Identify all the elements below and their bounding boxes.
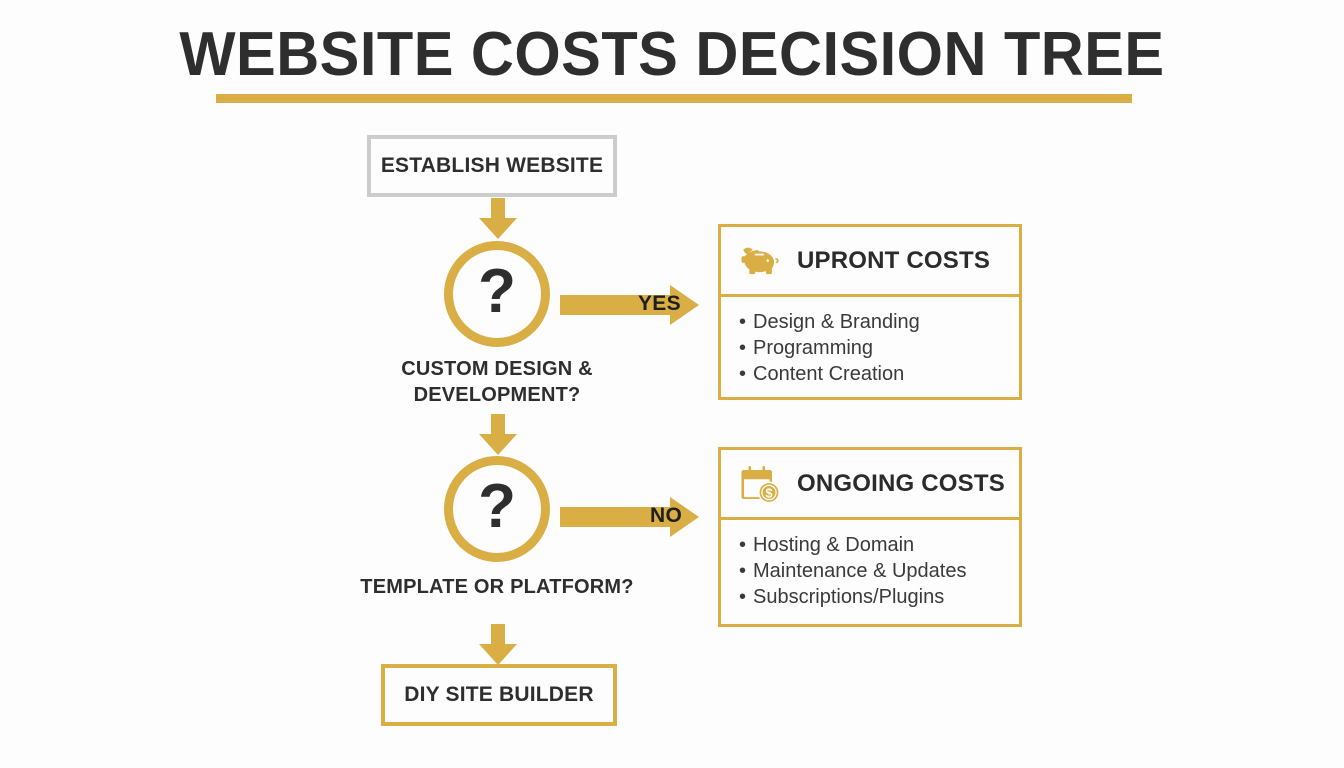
piggy-bank-icon [737, 238, 783, 284]
list-item: •Hosting & Domain [739, 532, 1019, 558]
question-mark-icon: ? [478, 261, 516, 323]
decision-node-template-platform-caption: TEMPLATE OR PLATFORM? [332, 574, 662, 600]
card-upfront-costs-body: •Design & Branding •Programming •Content… [721, 297, 1019, 387]
list-item-label: Design & Branding [753, 311, 920, 333]
node-establish-website-label: ESTABLISH WEBSITE [381, 154, 603, 178]
list-item-label: Content Creation [753, 363, 904, 385]
card-ongoing-costs[interactable]: $ ONGOING COSTS •Hosting & Domain •Maint… [718, 447, 1022, 627]
node-establish-website[interactable]: ESTABLISH WEBSITE [367, 135, 617, 197]
list-item: •Subscriptions/Plugins [739, 584, 1019, 610]
svg-text:$: $ [765, 485, 773, 500]
page-title: WEBSITE COSTS DECISION TREE [27, 22, 1317, 87]
card-ongoing-costs-header: $ ONGOING COSTS [721, 450, 1019, 520]
card-ongoing-costs-body: •Hosting & Domain •Maintenance & Updates… [721, 520, 1019, 610]
arrow-down-establish-to-decision1 [476, 198, 520, 240]
decision-node-custom-design-caption: CUSTOM DESIGN & DEVELOPMENT? [332, 356, 662, 408]
branch-label-no: NO [650, 504, 682, 528]
card-upfront-costs-header: UPRONT COSTS [721, 227, 1019, 297]
bullet-glyph: • [739, 335, 753, 361]
list-item: •Maintenance & Updates [739, 558, 1019, 584]
card-ongoing-costs-list: •Hosting & Domain •Maintenance & Updates… [739, 532, 1019, 610]
bullet-glyph: • [739, 309, 753, 335]
title-underline-bar [216, 94, 1132, 103]
list-item-label: Maintenance & Updates [753, 560, 966, 582]
bullet-glyph: • [739, 532, 753, 558]
node-diy-site-builder[interactable]: DIY SITE BUILDER [381, 664, 617, 726]
list-item: •Programming [739, 335, 1019, 361]
decision-node-custom-design[interactable]: ? [444, 241, 550, 347]
question-mark-icon: ? [478, 476, 516, 538]
bullet-glyph: • [739, 558, 753, 584]
title-block: WEBSITE COSTS DECISION TREE [0, 22, 1344, 87]
list-item-label: Programming [753, 337, 873, 359]
list-item: •Content Creation [739, 361, 1019, 387]
list-item-label: Subscriptions/Plugins [753, 586, 944, 608]
arrow-down-decision2-to-diy [476, 624, 520, 666]
card-upfront-costs[interactable]: UPRONT COSTS •Design & Branding •Program… [718, 224, 1022, 400]
bullet-glyph: • [739, 361, 753, 387]
bullet-glyph: • [739, 584, 753, 610]
list-item: •Design & Branding [739, 309, 1019, 335]
card-upfront-costs-list: •Design & Branding •Programming •Content… [739, 309, 1019, 387]
branch-label-yes: YES [638, 292, 681, 316]
diagram-canvas: WEBSITE COSTS DECISION TREE ESTABLISH WE… [0, 0, 1344, 768]
decision-node-template-platform[interactable]: ? [444, 456, 550, 562]
card-ongoing-costs-title: ONGOING COSTS [797, 470, 1005, 498]
arrow-down-decision1-to-decision2 [476, 414, 520, 456]
card-upfront-costs-title: UPRONT COSTS [797, 247, 990, 275]
calendar-dollar-icon: $ [737, 461, 783, 507]
node-diy-site-builder-label: DIY SITE BUILDER [404, 683, 594, 707]
list-item-label: Hosting & Domain [753, 534, 914, 556]
